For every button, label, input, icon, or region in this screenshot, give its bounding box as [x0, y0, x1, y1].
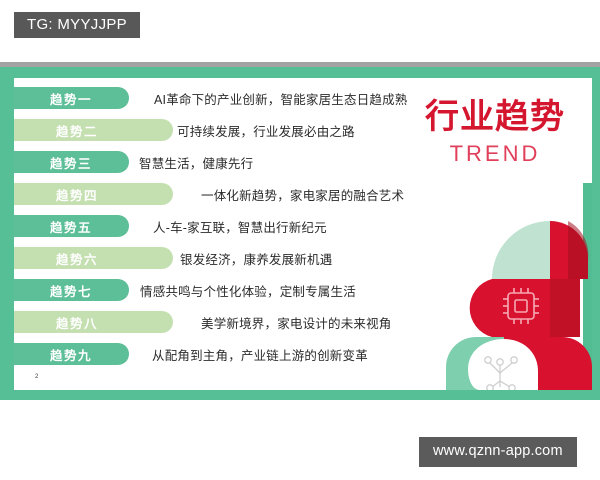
trend-description: 人-车-家互联，智慧出行新纪元 [153, 215, 327, 237]
top-watermark-badge: TG: MYYJJPP [14, 12, 140, 38]
slide-title-block: 行业趋势 TREND [400, 100, 590, 165]
red-chip-block-shadow [550, 279, 580, 337]
pale-green-wedge [492, 221, 550, 279]
trend-pill-label: 趋势三 [14, 151, 129, 173]
page-subtitle: TREND [400, 143, 590, 165]
trend-pill-label: 趋势六 [14, 247, 173, 269]
trend-description: 从配角到主角，产业链上游的创新变革 [152, 343, 368, 365]
trend-description: AI革命下的产业创新，智能家居生态日趋成熟 [154, 87, 408, 109]
trend-description: 美学新境界，家电设计的未来视角 [201, 311, 392, 333]
trend-pill-label: 趋势五 [14, 215, 129, 237]
trend-description: 可持续发展，行业发展必由之路 [177, 119, 355, 141]
page-number: 2 [35, 374, 38, 380]
trend-list: 趋势一 AI革命下的产业创新，智能家居生态日趋成熟 趋势二 可持续发展，行业发展… [14, 78, 444, 378]
trend-pill-label: 趋势九 [14, 343, 129, 365]
trend-pill-label: 趋势一 [14, 87, 129, 109]
slide-canvas: 趋势一 AI革命下的产业创新，智能家居生态日趋成熟 趋势二 可持续发展，行业发展… [14, 78, 592, 390]
trend-description: 银发经济，康养发展新机遇 [180, 247, 332, 269]
trend-pill-label: 趋势二 [14, 119, 173, 141]
bottom-watermark-badge: www.qznn-app.com [419, 437, 577, 467]
page-title: 行业趋势 [400, 100, 590, 134]
trend-description: 一体化新趋势，家电家居的融合艺术 [201, 183, 404, 205]
presentation-slide: 趋势一 AI革命下的产业创新，智能家居生态日趋成熟 趋势二 可持续发展，行业发展… [0, 67, 600, 400]
trend-pill-label: 趋势七 [14, 279, 129, 301]
trend-description: 智慧生活，健康先行 [139, 151, 253, 173]
decorative-artwork [446, 183, 592, 390]
trend-pill-label: 趋势四 [14, 183, 173, 205]
trend-description: 情感共鸣与个性化体验，定制专属生活 [140, 279, 356, 301]
trend-pill-label: 趋势八 [14, 311, 173, 333]
